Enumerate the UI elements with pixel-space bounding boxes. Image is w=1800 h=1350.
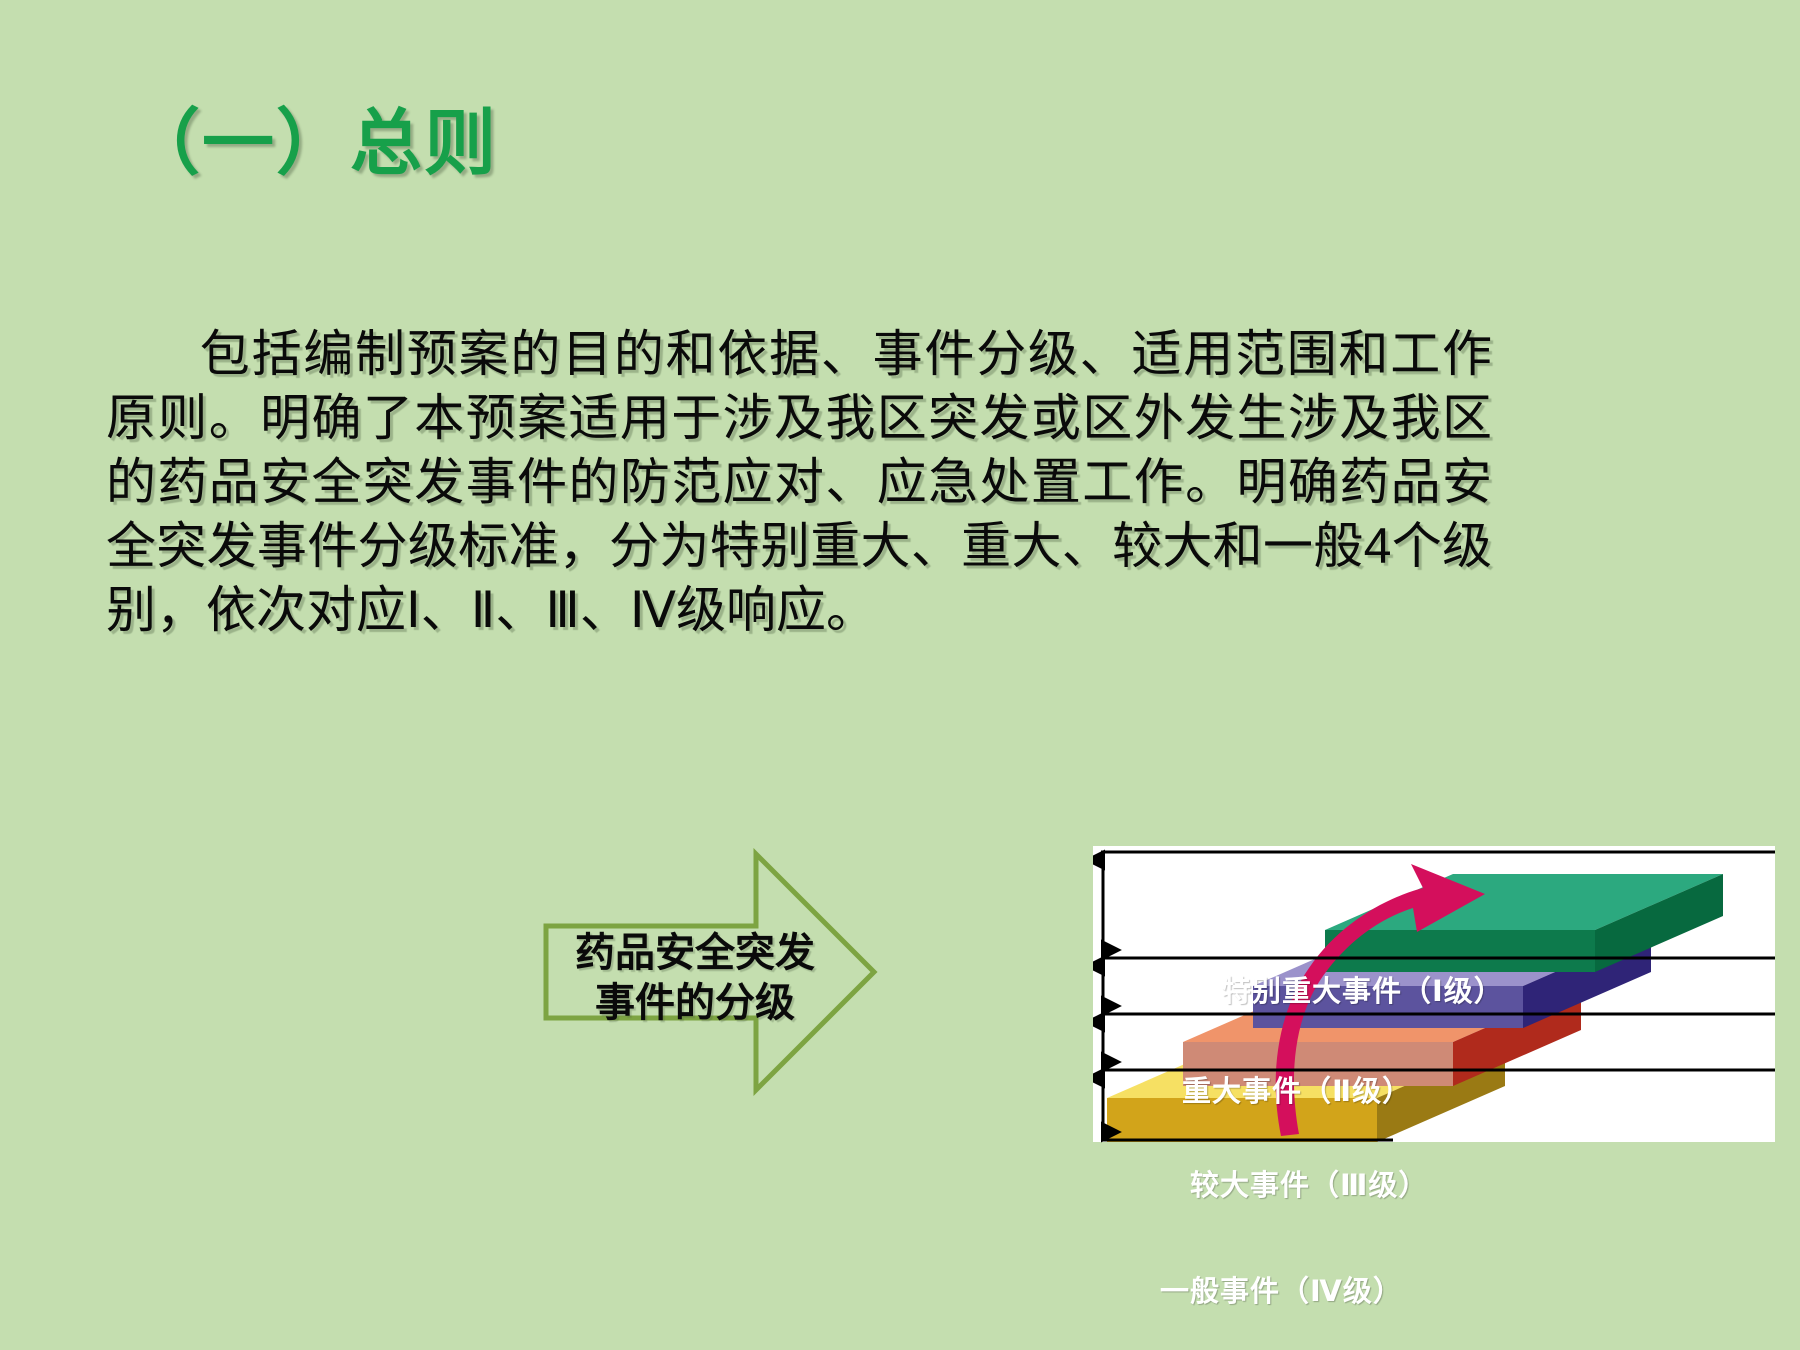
callout-label-line1: 药品安全突发 bbox=[570, 928, 820, 978]
slab-label-level-4: 一般事件（Ⅳ级） bbox=[1160, 1268, 1403, 1310]
paragraph-text: 包括编制预案的目的和依据、事件分级、适用范围和工作原则。明确了本预案适用于涉及我… bbox=[106, 326, 1492, 638]
slide-canvas: （一）总则 包括编制预案的目的和依据、事件分级、适用范围和工作原则。明确了本预案… bbox=[0, 0, 1800, 1350]
callout-label: 药品安全突发 事件的分级 bbox=[570, 928, 820, 1028]
slab-label-level-1: 特别重大事件（Ⅰ级） bbox=[1222, 968, 1504, 1010]
callout-label-line2: 事件的分级 bbox=[570, 978, 820, 1028]
page-title: （一）总则 bbox=[128, 108, 498, 180]
body-paragraph: 包括编制预案的目的和依据、事件分级、适用范围和工作原则。明确了本预案适用于涉及我… bbox=[106, 322, 1492, 642]
slab-label-level-2: 重大事件（Ⅱ级） bbox=[1182, 1068, 1412, 1110]
slab-label-level-3: 较大事件（Ⅲ级） bbox=[1190, 1162, 1428, 1204]
